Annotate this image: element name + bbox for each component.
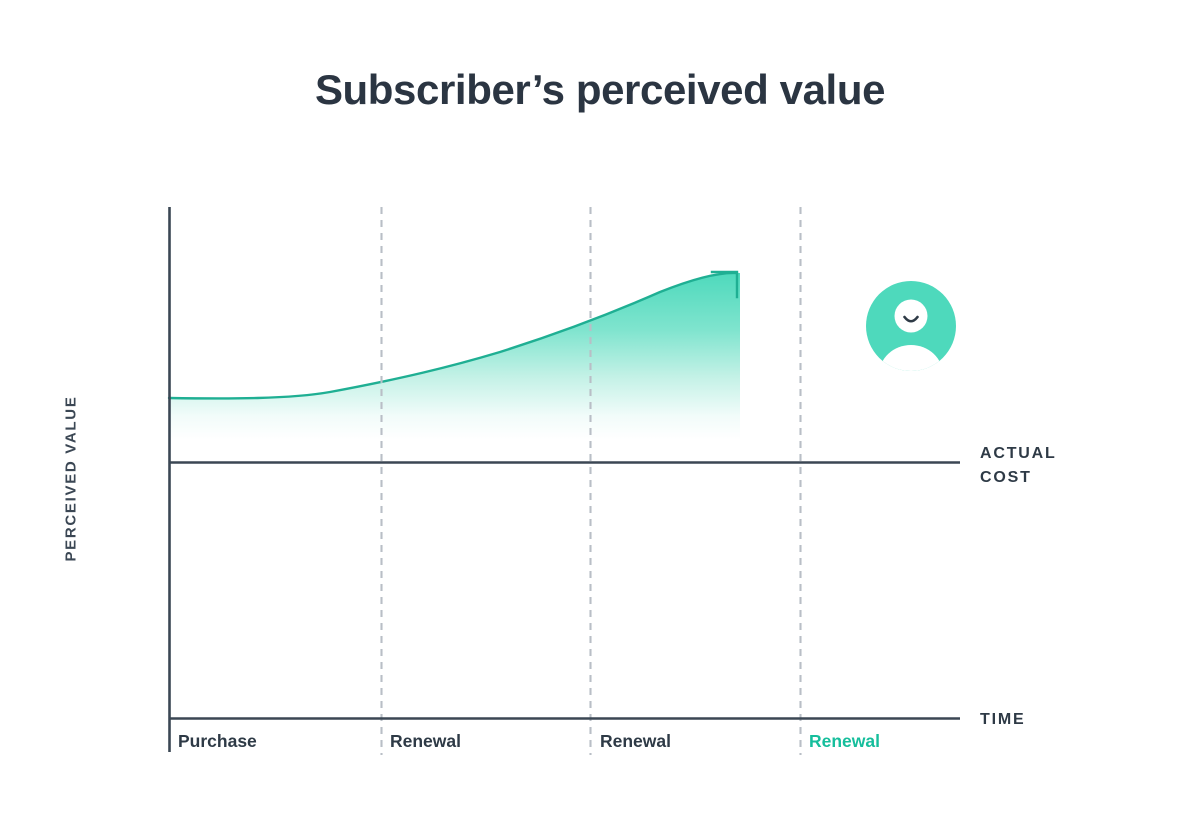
y-axis-title: PERCEIVED VALUE	[63, 369, 80, 589]
x-tick-renewal-3: Renewal	[809, 731, 880, 752]
perceived-value-area	[169, 273, 740, 440]
actual-cost-label: ACTUAL COST	[980, 442, 1057, 490]
x-axis-end-label: TIME	[980, 708, 1025, 732]
avatar-head	[895, 300, 928, 333]
x-tick-renewal-1: Renewal	[390, 731, 461, 752]
x-tick-renewal-2: Renewal	[600, 731, 671, 752]
subscriber-avatar-icon	[866, 281, 956, 371]
chart-canvas: Subscriber’s perceived value	[0, 0, 1200, 839]
x-tick-purchase: Purchase	[178, 731, 257, 752]
